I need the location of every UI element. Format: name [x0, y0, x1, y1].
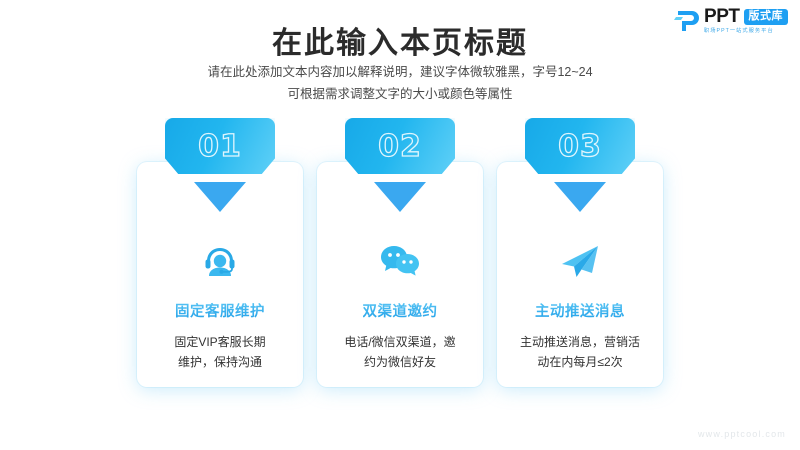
footer-watermark: www.pptcool.com [698, 429, 786, 439]
number-badge-3: 03 [525, 118, 635, 174]
feature-card-2[interactable]: 双渠道邀约 电话/微信双渠道，邀 约为微信好友 [317, 162, 483, 387]
card-body-2-line-2: 约为微信好友 [364, 355, 436, 369]
subtitle-line-1: 请在此处添加文本内容加以解释说明，建议字体微软雅黑，字号12~24 [0, 62, 800, 84]
card-body-1-line-2: 维护，保持沟通 [178, 355, 262, 369]
headset-support-icon [200, 242, 240, 282]
cards-row: 01 固定客服维护 固定VIP客服长期 维护，保持沟通 [0, 118, 800, 387]
card-body-3: 主动推送消息，营销活 动在内每月≤2次 [514, 333, 646, 373]
card-body-3-line-1: 主动推送消息，营销活 [520, 335, 640, 349]
number-badge-2: 02 [345, 118, 455, 174]
page-subtitle: 请在此处添加文本内容加以解释说明，建议字体微软雅黑，字号12~24 可根据需求调… [0, 62, 800, 106]
card-body-2-line-1: 电话/微信双渠道，邀 [344, 335, 455, 349]
feature-card-1[interactable]: 固定客服维护 固定VIP客服长期 维护，保持沟通 [137, 162, 303, 387]
card-title-3: 主动推送消息 [535, 300, 625, 321]
wechat-chat-bubbles-icon [379, 242, 421, 282]
card-body-3-line-2: 动在内每月≤2次 [537, 355, 622, 369]
triangle-pointer-icon [374, 182, 426, 212]
badge-number-2: 02 [378, 129, 422, 164]
number-badge-1: 01 [165, 118, 275, 174]
subtitle-line-2: 可根据需求调整文字的大小或颜色等属性 [0, 84, 800, 106]
badge-number-1: 01 [198, 129, 242, 164]
card-column-1: 01 固定客服维护 固定VIP客服长期 维护，保持沟通 [130, 118, 310, 387]
card-body-1: 固定VIP客服长期 维护，保持沟通 [154, 333, 286, 373]
card-column-3: 03 主动推送消息 主动推送消息，营销活 动在内每月≤2次 [490, 118, 670, 387]
card-column-2: 02 双渠道邀约 电话/微信双渠道，邀 约为微信好友 [310, 118, 490, 387]
feature-card-3[interactable]: 主动推送消息 主动推送消息，营销活 动在内每月≤2次 [497, 162, 663, 387]
paper-plane-send-icon [559, 242, 601, 282]
card-body-1-line-1: 固定VIP客服长期 [174, 335, 265, 349]
card-title-2: 双渠道邀约 [363, 300, 438, 321]
triangle-pointer-icon [554, 182, 606, 212]
card-body-2: 电话/微信双渠道，邀 约为微信好友 [334, 333, 466, 373]
card-title-1: 固定客服维护 [175, 300, 265, 321]
triangle-pointer-icon [194, 182, 246, 212]
page-title: 在此输入本页标题 [0, 18, 800, 62]
badge-number-3: 03 [558, 129, 602, 164]
